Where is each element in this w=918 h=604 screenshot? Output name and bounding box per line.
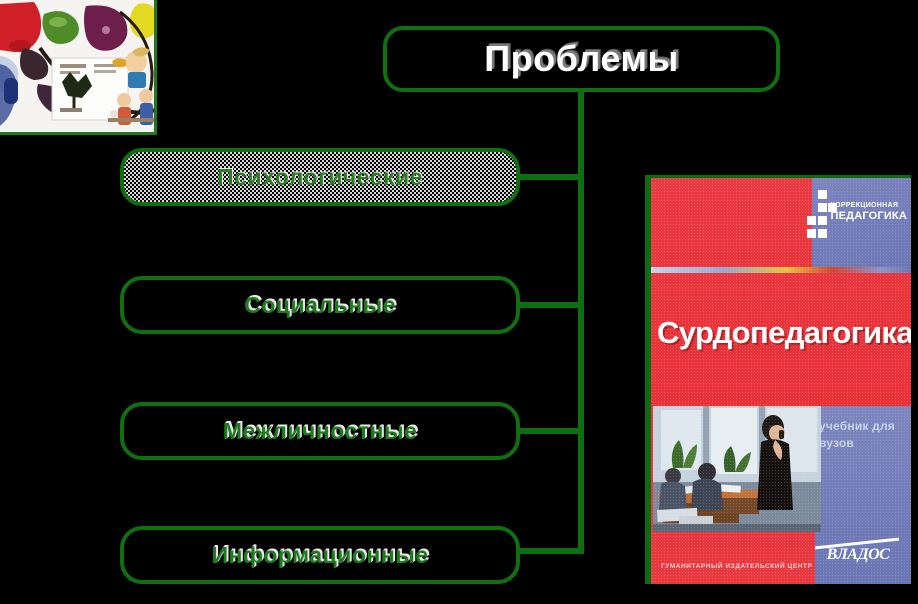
connector-branch-3 (516, 428, 584, 434)
book-publisher-center: ГУМАНИТАРНЫЙ ИЗДАТЕЛЬСКИЙ ЦЕНТР (661, 563, 812, 570)
book-color-stripe (651, 267, 911, 273)
diagram-title-box[interactable]: Проблемы (383, 26, 780, 92)
book-subtitle: учебник для вузов (819, 418, 901, 452)
diagram-node-social[interactable]: Социальные (120, 276, 520, 334)
book-cover-image: КОРРЕКЦИОННАЯ ПЕДАГОГИКА Сурдопедагогика… (645, 175, 911, 584)
collage-image (0, 0, 157, 135)
slide-canvas: Проблемы Психологические Социальные Межл… (0, 0, 918, 604)
diagram-node-label: Информационные (211, 542, 428, 569)
book-series-line1: КОРРЕКЦИОННАЯ (831, 201, 907, 210)
diagram-node-interpersonal[interactable]: Межличностные (120, 402, 520, 460)
book-cover-front: КОРРЕКЦИОННАЯ ПЕДАГОГИКА Сурдопедагогика… (651, 178, 911, 584)
book-publisher-logo: ВЛАДОС (813, 546, 903, 564)
book-photo-artwork (653, 406, 821, 532)
connector-branch-1 (516, 174, 584, 180)
book-series-text: КОРРЕКЦИОННАЯ ПЕДАГОГИКА (831, 201, 907, 223)
book-cover-photo (653, 406, 821, 532)
book-series-line2: ПЕДАГОГИКА (831, 210, 907, 223)
collage-artwork (0, 0, 157, 135)
book-title: Сурдопедагогика (657, 315, 911, 351)
diagram-node-label: Психологические (217, 164, 423, 191)
diagram-node-informational[interactable]: Информационные (120, 526, 520, 584)
diagram-node-label: Социальные (244, 292, 396, 319)
diagram-node-label: Межличностные (223, 418, 418, 445)
diagram-title-label: Проблемы (484, 38, 679, 80)
connector-branch-4 (516, 548, 584, 554)
connector-trunk (578, 92, 584, 554)
diagram-node-psychological[interactable]: Психологические (120, 148, 520, 206)
connector-branch-2 (516, 302, 584, 308)
